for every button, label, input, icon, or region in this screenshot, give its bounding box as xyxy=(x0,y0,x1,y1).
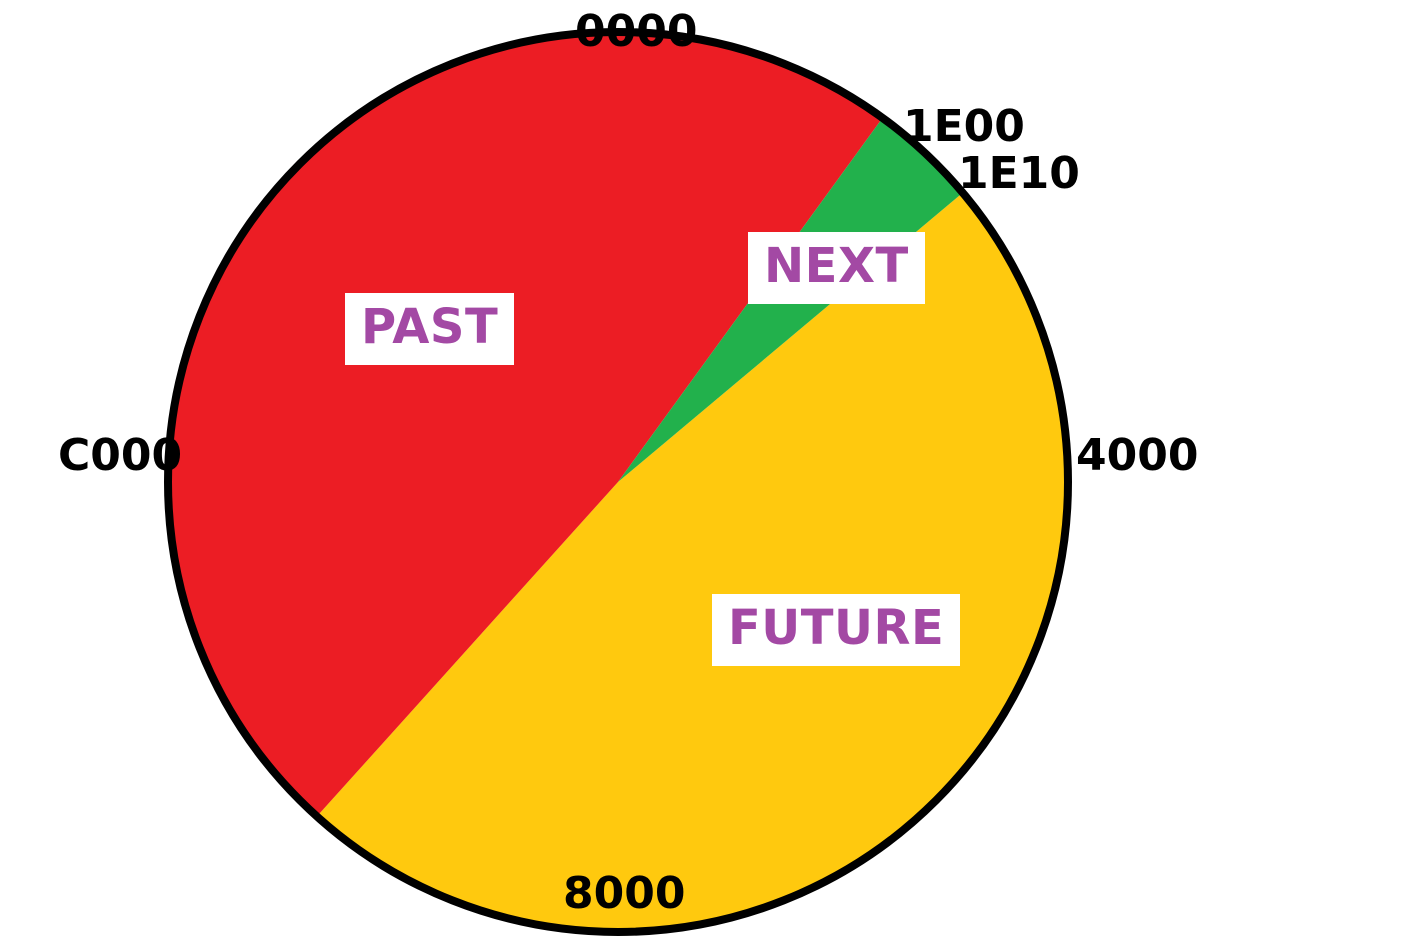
tick-label-0000: 0000 xyxy=(575,10,697,54)
slice-label-future: FUTURE xyxy=(712,594,960,666)
tick-label-c000: C000 xyxy=(58,434,182,478)
slice-label-past: PAST xyxy=(345,293,514,365)
slice-label-next: NEXT xyxy=(748,232,925,304)
tick-label-1e00: 1E00 xyxy=(903,105,1025,149)
pie-slices xyxy=(168,32,1068,932)
tick-label-8000: 8000 xyxy=(563,872,685,916)
pie-chart-figure: 0000 1E00 1E10 4000 8000 C000 PAST NEXT … xyxy=(0,0,1404,949)
tick-label-1e10: 1E10 xyxy=(958,152,1080,196)
tick-label-4000: 4000 xyxy=(1076,434,1198,478)
